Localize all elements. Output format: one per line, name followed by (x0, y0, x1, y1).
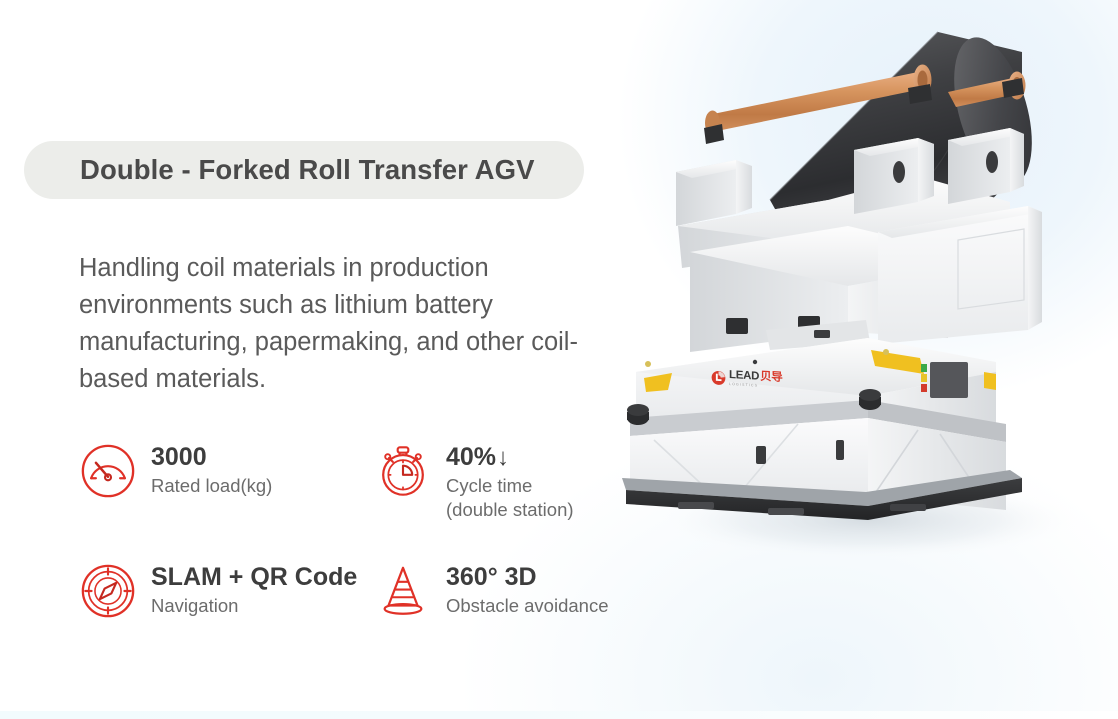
spec-item-rated-load: 3000 Rated load(kg) (79, 440, 374, 560)
spec-value: SLAM + QR Code (151, 564, 358, 590)
spec-caption: Rated load(kg) (151, 474, 272, 498)
spec-caption: Navigation (151, 594, 358, 618)
spec-item-cycle-time: 40% ↓ Cycle time (double station) (374, 440, 649, 560)
spec-value: 40% ↓ (446, 444, 574, 470)
spec-body: 3000 Rated load(kg) (151, 440, 272, 498)
page-title: Double - Forked Roll Transfer AGV (80, 154, 535, 186)
logo-word-cn: 贝导 (760, 372, 782, 385)
spec-body: SLAM + QR Code Navigation (151, 560, 358, 618)
spec-value-number: SLAM + QR Code (151, 564, 357, 590)
agv-illustration (618, 0, 1118, 719)
spec-value: 360° 3D (446, 564, 609, 590)
stopwatch-icon (374, 442, 432, 500)
logo-word-en: LEAD (729, 370, 759, 383)
description-text: Handling coil materials in production en… (79, 250, 639, 398)
product-slide: Double - Forked Roll Transfer AGV Handli… (0, 0, 1118, 719)
spec-caption: Obstacle avoidance (446, 594, 609, 618)
spec-caption: Cycle time (double station) (446, 474, 574, 522)
spec-value-number: 3000 (151, 444, 207, 470)
product-image: LEAD 贝导 LOGISTICS (618, 0, 1118, 719)
title-pill: Double - Forked Roll Transfer AGV (24, 141, 584, 199)
logo-text: LEAD 贝导 LOGISTICS (729, 370, 783, 389)
lead-logo-mark-icon (711, 370, 726, 386)
spec-value-number: 360° 3D (446, 564, 537, 590)
spec-body: 40% ↓ Cycle time (double station) (446, 440, 574, 522)
spec-value-arrow: ↓ (497, 445, 509, 470)
traffic-cone-icon (374, 562, 432, 620)
gauge-icon (79, 442, 137, 500)
spec-body: 360° 3D Obstacle avoidance (446, 560, 609, 618)
spec-item-navigation: SLAM + QR Code Navigation (79, 560, 374, 620)
spec-value-number: 40% (446, 444, 496, 470)
spec-value: 3000 (151, 444, 272, 470)
specs-grid: 3000 Rated load(kg) (79, 440, 659, 620)
content-column: Double - Forked Roll Transfer AGV Handli… (0, 0, 660, 719)
spec-item-obstacle-avoidance: 360° 3D Obstacle avoidance (374, 560, 649, 620)
compass-icon (79, 562, 137, 620)
